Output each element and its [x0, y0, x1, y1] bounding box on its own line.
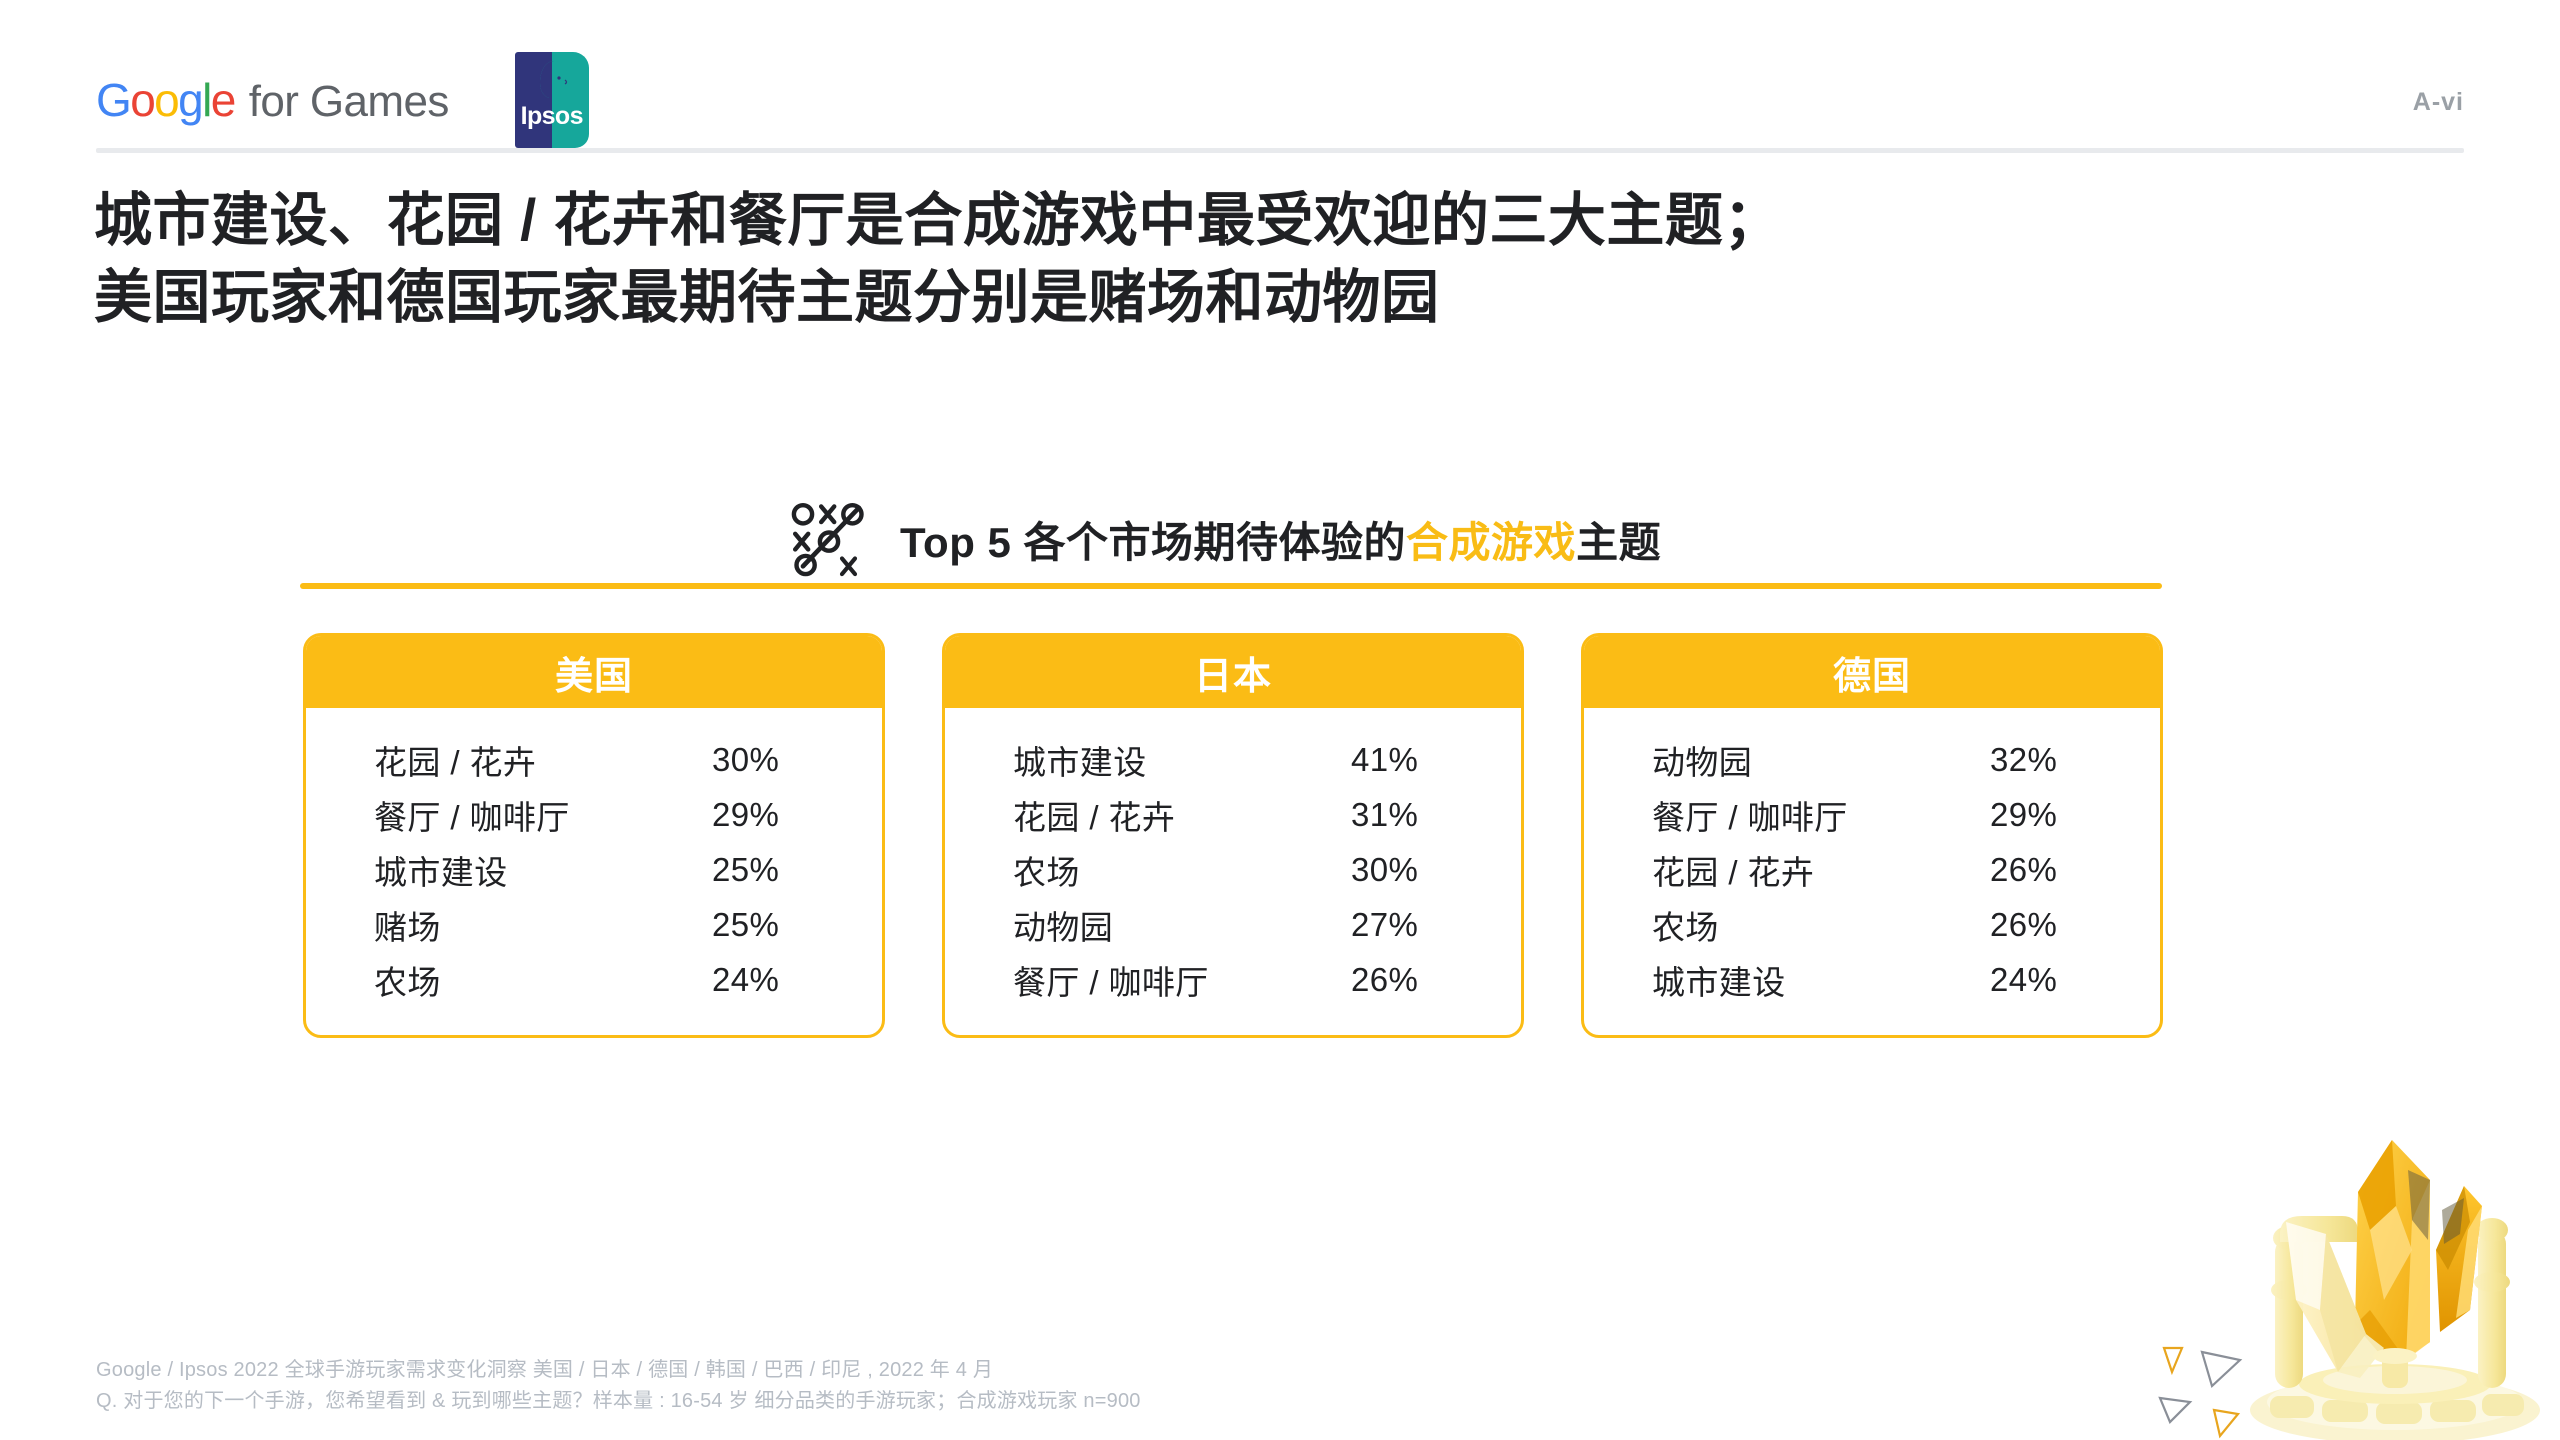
chart-header-row: Top 5 各个市场期待体验的合成游戏主题: [300, 495, 2162, 583]
market-name: 德国: [1833, 645, 1911, 700]
table-row: 餐厅 / 咖啡厅 26%: [945, 952, 1521, 1007]
market-card-body: 花园 / 花卉 30% 餐厅 / 咖啡厅 29% 城市建设 25% 赌场 25%…: [306, 708, 882, 1035]
amber-crystal-illustration: [2130, 1110, 2560, 1440]
market-card-header: 德国: [1584, 636, 2160, 708]
ipsos-wordmark: Ipsos: [515, 104, 589, 129]
theme-label: 花园 / 花卉: [1013, 791, 1351, 839]
chart-title-highlight: 合成游戏: [1406, 519, 1576, 566]
google-for-games-logo: Google for Games: [96, 77, 449, 124]
market-card-japan: 日本 城市建设 41% 花园 / 花卉 31% 农场 30% 动物园 27%: [942, 633, 1524, 1038]
theme-value: 30%: [712, 741, 882, 779]
theme-label: 餐厅 / 咖啡厅: [1652, 791, 1990, 839]
table-row: 花园 / 花卉 30%: [306, 732, 882, 787]
source-footnote: Google / Ipsos 2022 全球手游玩家需求变化洞察 美国 / 日本…: [96, 1355, 1141, 1417]
theme-value: 32%: [1990, 741, 2160, 779]
table-row: 农场 30%: [945, 842, 1521, 897]
theme-value: 30%: [1351, 851, 1521, 889]
market-name: 日本: [1194, 645, 1272, 700]
footnote-line-2: Q. 对于您的下一个手游，您希望看到 & 玩到哪些主题？样本量 : 16-54 …: [96, 1386, 1141, 1417]
table-row: 城市建设 41%: [945, 732, 1521, 787]
theme-value: 27%: [1351, 906, 1521, 944]
google-letter-g2: g: [178, 74, 202, 126]
chart-title-suffix: 主题: [1576, 519, 1661, 566]
brand-row: Google for Games Ipsos: [96, 52, 589, 148]
chart-title: Top 5 各个市场期待体验的合成游戏主题: [900, 509, 1661, 570]
google-wordmark: Google: [96, 77, 235, 123]
theme-value: 24%: [1990, 961, 2160, 999]
google-letter-e: e: [211, 74, 235, 126]
crystal-svg: [2130, 1110, 2560, 1440]
market-card-germany: 德国 动物园 32% 餐厅 / 咖啡厅 29% 花园 / 花卉 26% 农场 2…: [1581, 633, 2163, 1038]
market-cards-container: 美国 花园 / 花卉 30% 餐厅 / 咖啡厅 29% 城市建设 25% 赌场 …: [303, 633, 2163, 1038]
google-letter-o2: o: [154, 74, 178, 126]
tic-tac-toe-icon: [790, 500, 868, 578]
google-letter-l: l: [202, 74, 211, 126]
google-letter-g1: G: [96, 74, 130, 126]
footnote-line-1: Google / Ipsos 2022 全球手游玩家需求变化洞察 美国 / 日本…: [96, 1355, 1141, 1386]
table-row: 餐厅 / 咖啡厅 29%: [1584, 787, 2160, 842]
theme-label: 餐厅 / 咖啡厅: [374, 791, 712, 839]
table-row: 农场 26%: [1584, 897, 2160, 952]
table-row: 赌场 25%: [306, 897, 882, 952]
market-name: 美国: [555, 645, 633, 700]
theme-value: 26%: [1990, 906, 2160, 944]
theme-label: 城市建设: [1652, 956, 1990, 1004]
table-row: 花园 / 花卉 26%: [1584, 842, 2160, 897]
theme-value: 26%: [1990, 851, 2160, 889]
market-card-body: 城市建设 41% 花园 / 花卉 31% 农场 30% 动物园 27% 餐厅 /…: [945, 708, 1521, 1035]
theme-label: 农场: [374, 956, 712, 1004]
theme-label: 城市建设: [1013, 736, 1351, 784]
theme-label: 农场: [1652, 901, 1990, 949]
google-letter-o1: o: [130, 74, 154, 126]
page-title: 城市建设、花园 / 花卉和餐厅是合成游戏中最受欢迎的三大主题； 美国玩家和德国玩…: [94, 182, 2294, 336]
page-title-line-2: 美国玩家和德国玩家最期待主题分别是赌场和动物园: [94, 259, 2294, 336]
chart-title-prefix: Top 5 各个市场期待体验的: [900, 519, 1406, 566]
theme-label: 动物园: [1013, 901, 1351, 949]
market-card-header: 美国: [306, 636, 882, 708]
theme-label: 农场: [1013, 846, 1351, 894]
market-card-header: 日本: [945, 636, 1521, 708]
theme-label: 赌场: [374, 901, 712, 949]
theme-value: 26%: [1351, 961, 1521, 999]
theme-value: 25%: [712, 906, 882, 944]
theme-label: 花园 / 花卉: [1652, 846, 1990, 894]
table-row: 动物园 27%: [945, 897, 1521, 952]
market-card-body: 动物园 32% 餐厅 / 咖啡厅 29% 花园 / 花卉 26% 农场 26% …: [1584, 708, 2160, 1035]
table-row: 农场 24%: [306, 952, 882, 1007]
table-row: 城市建设 25%: [306, 842, 882, 897]
market-card-us: 美国 花园 / 花卉 30% 餐厅 / 咖啡厅 29% 城市建设 25% 赌场 …: [303, 633, 885, 1038]
theme-label: 餐厅 / 咖啡厅: [1013, 956, 1351, 1004]
table-row: 餐厅 / 咖啡厅 29%: [306, 787, 882, 842]
table-row: 动物园 32%: [1584, 732, 2160, 787]
theme-label: 城市建设: [374, 846, 712, 894]
header-divider: [96, 148, 2464, 153]
theme-value: 29%: [712, 796, 882, 834]
chart-header: Top 5 各个市场期待体验的合成游戏主题: [300, 495, 2162, 583]
slide-header: Google for Games Ipsos A-vi: [0, 0, 2560, 160]
theme-value: 31%: [1351, 796, 1521, 834]
page-code-label: A-vi: [2413, 88, 2464, 117]
for-games-text: for Games: [249, 80, 449, 124]
theme-value: 25%: [712, 851, 882, 889]
theme-value: 41%: [1351, 741, 1521, 779]
table-row: 城市建设 24%: [1584, 952, 2160, 1007]
theme-label: 动物园: [1652, 736, 1990, 784]
slide-root: Google for Games Ipsos A-vi 城市建设、花园 / 花卉…: [0, 0, 2560, 1440]
page-title-line-1: 城市建设、花园 / 花卉和餐厅是合成游戏中最受欢迎的三大主题；: [94, 182, 2294, 259]
table-row: 花园 / 花卉 31%: [945, 787, 1521, 842]
theme-value: 24%: [712, 961, 882, 999]
theme-value: 29%: [1990, 796, 2160, 834]
theme-label: 花园 / 花卉: [374, 736, 712, 784]
ipsos-logo: Ipsos: [515, 52, 589, 148]
chart-header-rule: [300, 583, 2162, 589]
